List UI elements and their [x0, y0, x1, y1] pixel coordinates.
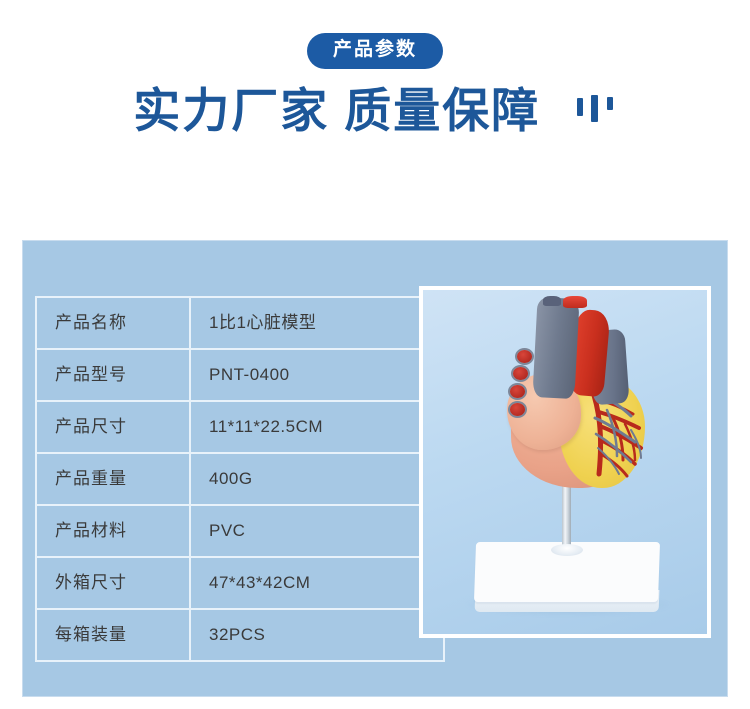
aorta-opening [563, 296, 587, 308]
spec-label: 每箱装量 [36, 609, 190, 661]
spec-label: 产品型号 [36, 349, 190, 401]
headline-row: 实力厂家 质量保障 [0, 84, 750, 138]
page-header: 产品参数 实力厂家 质量保障 [0, 0, 750, 240]
spec-label: 产品尺寸 [36, 401, 190, 453]
heart-model-illustration [423, 290, 707, 634]
vena-cava-opening [543, 296, 561, 306]
table-row: 外箱尺寸 47*43*42CM [36, 557, 444, 609]
page-title: 实力厂家 质量保障 [133, 84, 540, 138]
spec-value: PVC [190, 505, 444, 557]
spec-value: 1比1心脏模型 [190, 297, 444, 349]
spec-value: 11*11*22.5CM [190, 401, 444, 453]
spec-label: 产品重量 [36, 453, 190, 505]
table-row: 产品名称 1比1心脏模型 [36, 297, 444, 349]
table-row: 每箱装量 32PCS [36, 609, 444, 661]
superior-vena-cava [532, 297, 579, 399]
badge-row: 产品参数 [0, 33, 750, 69]
spec-value: 47*43*42CM [190, 557, 444, 609]
pulmonary-veins [509, 348, 539, 426]
spec-label: 外箱尺寸 [36, 557, 190, 609]
section-badge: 产品参数 [307, 33, 443, 69]
spec-table: 产品名称 1比1心脏模型 产品型号 PNT-0400 产品尺寸 11*11*22… [35, 296, 445, 662]
spec-label: 产品名称 [36, 297, 190, 349]
spec-label: 产品材料 [36, 505, 190, 557]
table-row: 产品重量 400G [36, 453, 444, 505]
table-row: 产品尺寸 11*11*22.5CM [36, 401, 444, 453]
spec-value: PNT-0400 [190, 349, 444, 401]
table-row: 产品型号 PNT-0400 [36, 349, 444, 401]
spec-value: 400G [190, 453, 444, 505]
product-photo-scene [423, 290, 707, 634]
product-photo [419, 286, 711, 638]
spec-panel: 产品名称 1比1心脏模型 产品型号 PNT-0400 产品尺寸 11*11*22… [22, 240, 728, 697]
spec-value: 32PCS [190, 609, 444, 661]
three-bar-decoration-icon [575, 88, 617, 122]
table-row: 产品材料 PVC [36, 505, 444, 557]
rod-collar [551, 544, 583, 556]
